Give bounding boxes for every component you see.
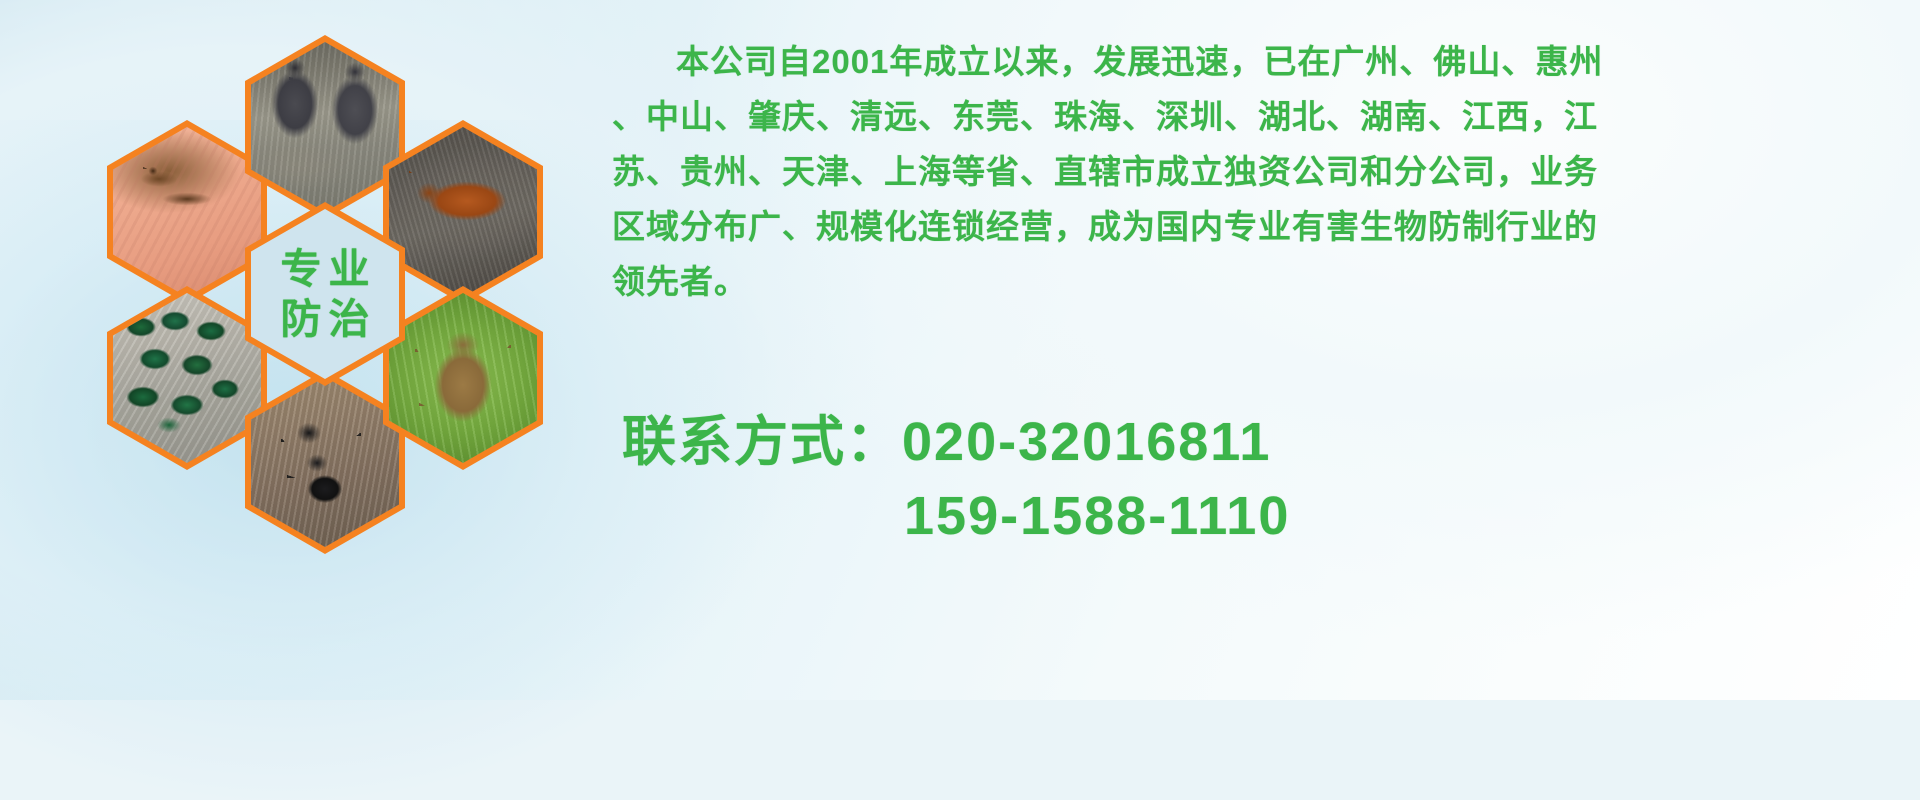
- cockroach-icon: [389, 127, 537, 297]
- stinkbug-photo: [383, 286, 543, 470]
- ant-icon: [251, 377, 399, 547]
- company-intro: 本公司自2001年成立以来，发展迅速，已在广州、佛山、惠州 、中山、肇庆、清远、…: [612, 34, 1912, 309]
- logo-hexagon: 专业 防治: [245, 202, 405, 386]
- mosquito-icon: [113, 127, 261, 297]
- rats-photo: [245, 35, 405, 219]
- stinkbug-icon: [389, 293, 537, 463]
- logo-line-2: 防治: [274, 294, 377, 344]
- fly-icon: [113, 293, 261, 463]
- mosquito-photo: [107, 120, 267, 304]
- intro-line-5: 领先者。: [612, 254, 1912, 309]
- logo-line-1: 专业: [274, 244, 377, 294]
- cockroach-photo: [383, 120, 543, 304]
- contact-block: 联系方式：020-32016811 159-1588-1110: [622, 405, 1912, 553]
- intro-line-1: 本公司自2001年成立以来，发展迅速，已在广州、佛山、惠州: [612, 34, 1912, 89]
- contact-phone-secondary[interactable]: 159-1588-1110: [622, 479, 1912, 553]
- rat-icon: [251, 42, 399, 212]
- contact-phone-primary[interactable]: 联系方式：020-32016811: [622, 405, 1912, 479]
- hexagon-photo-cluster: 专业 防治: [95, 10, 595, 570]
- promo-banner: 专业 防治 本公司自2001年成立以来，发展迅速，已在广州、佛山、惠州 、中山、…: [0, 0, 1920, 700]
- ant-photo: [245, 370, 405, 554]
- intro-line-4: 区域分布广、规模化连锁经营，成为国内专业有害生物防制行业的: [612, 199, 1912, 254]
- flies-photo: [107, 286, 267, 470]
- intro-line-3: 苏、贵州、天津、上海等省、直辖市成立独资公司和分公司，业务: [612, 144, 1912, 199]
- intro-line-2: 、中山、肇庆、清远、东莞、珠海、深圳、湖北、湖南、江西，江: [612, 89, 1912, 144]
